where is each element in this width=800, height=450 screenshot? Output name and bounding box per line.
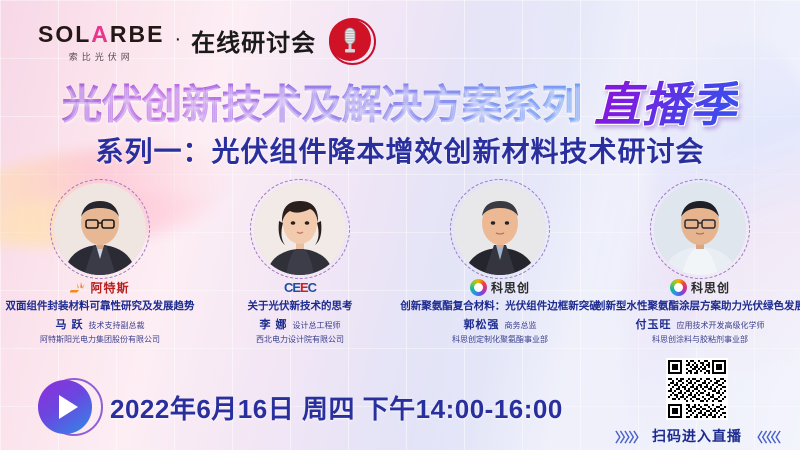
speaker-name-4: 付玉旺	[636, 316, 672, 332]
avatar-2	[254, 183, 346, 275]
event-datetime-block: 2022年6月16日 周四 下午14:00-16:00	[38, 378, 563, 436]
speaker-role-4: 应用技术开发高级化学师	[677, 320, 765, 331]
speaker-org-1: 阿特斯阳光电力集团股份有限公司	[40, 334, 160, 345]
covestro-ring-icon	[470, 279, 487, 296]
brand-logo-3: 科思创	[400, 278, 600, 296]
brand-logo-1: 阿特斯	[0, 278, 200, 296]
brand-name-3: 科思创	[491, 279, 530, 296]
speaker-name-1: 马 跃	[55, 316, 83, 332]
speaker-role-2: 设计总工程师	[293, 320, 341, 331]
play-button-icon[interactable]	[38, 378, 96, 436]
speaker-org-4: 科思创涂料与胶粘剂事业部	[652, 334, 748, 345]
solarbe-logo: SOLARBE 索比光伏网	[38, 23, 164, 63]
title-badge: 直播季	[594, 66, 738, 135]
brand-name-1: 阿特斯	[90, 279, 129, 296]
speaker-role-3: 商务总监	[505, 320, 537, 331]
chevron-right-icon: 〉〉〉〉〉	[615, 427, 644, 446]
sunburst-icon	[70, 281, 86, 294]
header: SOLARBE 索比光伏网 · 在线研讨会	[38, 18, 376, 68]
speaker-card-2: CEEC 关于光伏新技术的思考 李 娜 设计总工程师 西北电力设计院有限公司	[200, 183, 400, 345]
speaker-topic-2: 关于光伏新技术的思考	[248, 300, 353, 313]
microphone-icon	[329, 18, 376, 65]
main-title-row: 光伏创新技术及解决方案系列直播季	[0, 66, 800, 135]
speaker-topic-4: 创新型水性聚氨酯涂层方案助力光伏绿色发展	[595, 300, 800, 313]
main-title: 光伏创新技术及解决方案系列	[62, 72, 582, 130]
speaker-topic-3: 创新聚氨酯复合材料：光伏组件边框新突破	[400, 300, 600, 313]
header-webinar-label: 在线研讨会	[191, 23, 316, 58]
header-separator-dot: ·	[174, 28, 181, 51]
covestro-ring-icon	[670, 279, 687, 296]
speaker-name-3: 郭松强	[464, 316, 500, 332]
brand-logo-4: 科思创	[600, 278, 800, 296]
brand-logo-2: CEEC	[200, 278, 400, 296]
speaker-org-2: 西北电力设计院有限公司	[256, 334, 344, 345]
speaker-card-4: 科思创 创新型水性聚氨酯涂层方案助力光伏绿色发展 付玉旺 应用技术开发高级化学师…	[600, 183, 800, 345]
speaker-topic-1: 双面组件封装材料可靠性研究及发展趋势	[6, 300, 195, 313]
ceec-logo-icon: CEEC	[284, 280, 316, 295]
speaker-card-3: 科思创 创新聚氨酯复合材料：光伏组件边框新突破 郭松强 商务总监 科思创定制化聚…	[400, 183, 600, 345]
avatar-3	[454, 183, 546, 275]
qr-caption: 扫码进入直播	[652, 426, 742, 446]
speaker-role-1: 技术支持副总裁	[89, 320, 145, 331]
speaker-card-1: 阿特斯 双面组件封装材料可靠性研究及发展趋势 马 跃 技术支持副总裁 阿特斯阳光…	[0, 183, 200, 345]
qr-code-icon[interactable]	[666, 358, 728, 420]
subtitle: 系列一：光伏组件降本增效创新材料技术研讨会	[0, 130, 800, 170]
solarbe-chinese-name: 索比光伏网	[69, 50, 134, 63]
event-datetime: 2022年6月16日 周四 下午14:00-16:00	[110, 389, 563, 426]
qr-block: 〉〉〉〉〉 扫码进入直播 〈〈〈〈〈	[612, 358, 782, 446]
speaker-org-3: 科思创定制化聚氨酯事业部	[452, 334, 548, 345]
avatar-1	[54, 183, 146, 275]
solarbe-wordmark: SOLARBE	[38, 23, 164, 46]
chevron-left-icon: 〈〈〈〈〈	[750, 427, 779, 446]
speaker-list: 阿特斯 双面组件封装材料可靠性研究及发展趋势 马 跃 技术支持副总裁 阿特斯阳光…	[0, 183, 800, 345]
avatar-4	[654, 183, 746, 275]
brand-name-4: 科思创	[691, 279, 730, 296]
speaker-name-2: 李 娜	[259, 316, 287, 332]
